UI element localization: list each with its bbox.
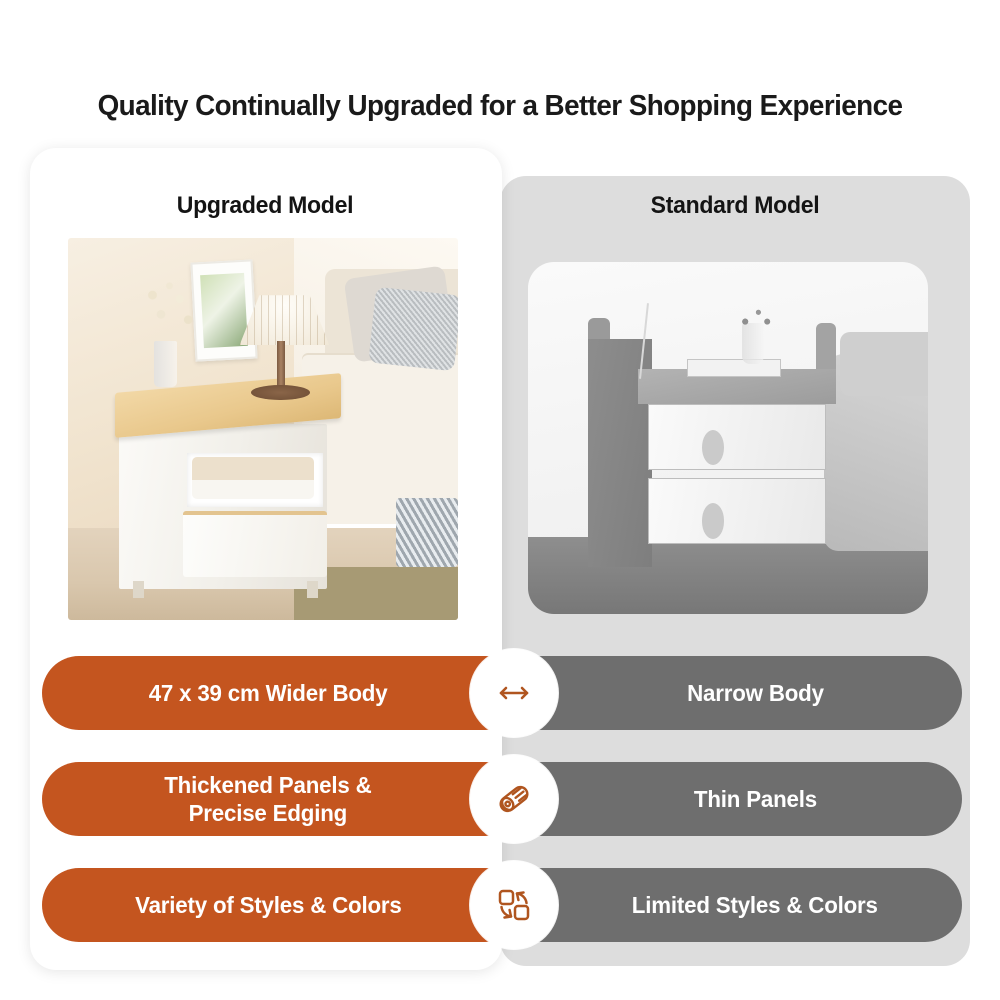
comparison-infographic: Quality Continually Upgraded for a Bette… <box>0 0 1000 1000</box>
standard-feature-pill: Narrow Body <box>502 656 962 730</box>
standard-feature-label: Thin Panels <box>693 785 816 813</box>
upgraded-feature-line-2: Precise Edging <box>189 800 347 826</box>
comparison-row-wider-body: 47 x 39 cm Wider Body Narrow Body <box>42 656 962 730</box>
standard-feature-label: Narrow Body <box>687 679 824 707</box>
arrows-left-right-icon <box>470 649 558 737</box>
comparison-row-styles-colors: Variety of Styles & Colors Limited Style… <box>42 868 962 942</box>
comparison-rows: 47 x 39 cm Wider Body Narrow Body Thicke… <box>0 0 1000 1000</box>
upgraded-feature-pill: Variety of Styles & Colors <box>42 868 522 942</box>
upgraded-feature-label: Variety of Styles & Colors <box>135 891 401 919</box>
upgraded-feature-pill: 47 x 39 cm Wider Body <box>42 656 522 730</box>
standard-feature-pill: Thin Panels <box>502 762 962 836</box>
wood-panel-icon <box>470 755 558 843</box>
upgraded-feature-line-1: Thickened Panels & <box>164 772 371 798</box>
standard-feature-label: Limited Styles & Colors <box>632 891 878 919</box>
upgraded-feature-label: Thickened Panels & Precise Edging <box>164 771 371 827</box>
upgraded-feature-pill: Thickened Panels & Precise Edging <box>42 762 522 836</box>
upgraded-feature-label: 47 x 39 cm Wider Body <box>149 679 388 707</box>
standard-feature-pill: Limited Styles & Colors <box>502 868 962 942</box>
comparison-row-thickened-panels: Thickened Panels & Precise Edging Thin P… <box>42 762 962 836</box>
styles-swap-icon <box>470 861 558 949</box>
